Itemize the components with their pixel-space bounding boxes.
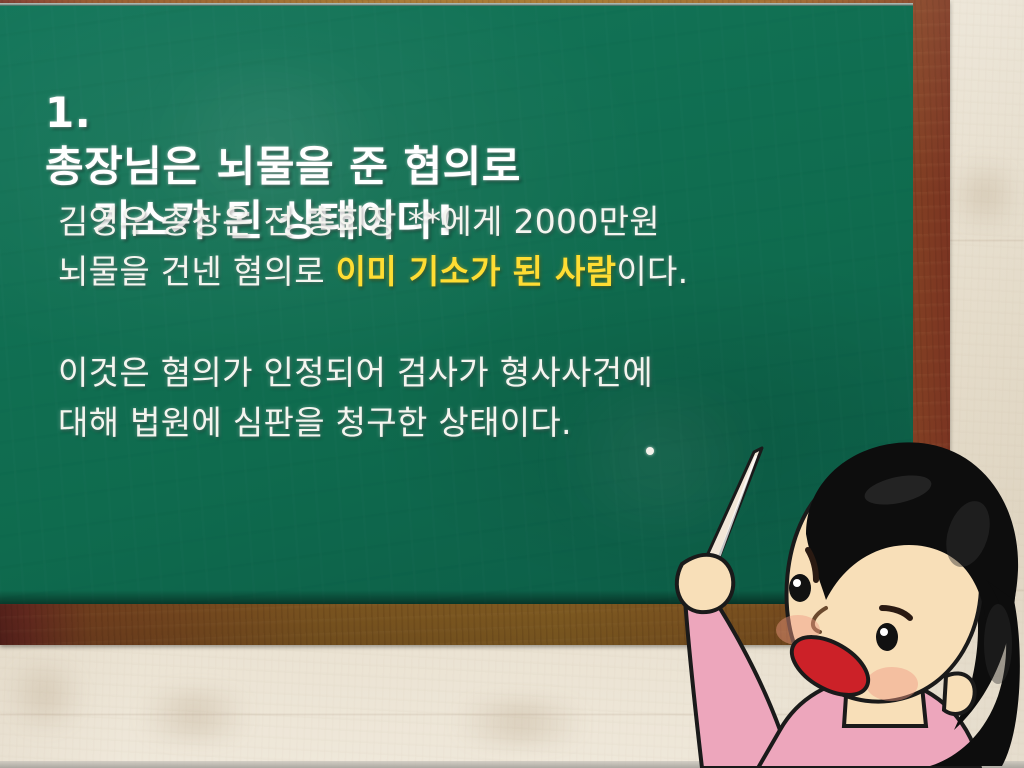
paragraph-2-line-1: 이것은 혐의가 인정되어 검사가 형사사건에 bbox=[58, 348, 838, 398]
paragraph-1: 김영우 총장은 전 총회장 **에게 2000만원 뇌물을 건넨 혐의로 이미 … bbox=[58, 197, 858, 297]
paragraph-2-line-2: 대해 법원에 심판을 청구한 상태이다. bbox=[58, 398, 838, 448]
wall-crack bbox=[0, 714, 930, 715]
paragraph-1-line-2-suffix: 이다. bbox=[616, 252, 688, 291]
highlighted-phrase: 이미 기소가 된 사람 bbox=[336, 252, 617, 291]
wall-crack bbox=[950, 240, 1024, 241]
wall-crack bbox=[950, 590, 1024, 591]
slide-number: 1. bbox=[45, 88, 91, 137]
slide-canvas: 1. 총장님은 뇌물을 준 협의로 기소가 된 상태이다! 김영우 총장은 전 … bbox=[0, 0, 1024, 768]
chalkboard-text-layer: 1. 총장님은 뇌물을 준 협의로 기소가 된 상태이다! 김영우 총장은 전 … bbox=[0, 0, 913, 604]
paragraph-1-line-2: 뇌물을 건넨 혐의로 이미 기소가 된 사람이다. bbox=[58, 247, 858, 297]
wall-bottom-edge bbox=[0, 761, 1024, 768]
wall-stain bbox=[430, 700, 610, 744]
wall-stain bbox=[955, 150, 1015, 240]
chalk-dot bbox=[646, 447, 654, 455]
paragraph-1-line-1: 김영우 총장은 전 총회장 **에게 2000만원 bbox=[58, 197, 858, 247]
title-line-1: 총장님은 뇌물을 준 협의로 bbox=[45, 142, 521, 191]
wall-stain bbox=[0, 660, 90, 730]
paragraph-1-line-2-prefix: 뇌물을 건넨 혐의로 bbox=[58, 252, 336, 291]
paragraph-2: 이것은 혐의가 인정되어 검사가 형사사건에 대해 법원에 심판을 청구한 상태… bbox=[58, 348, 838, 448]
wall-stain bbox=[120, 690, 270, 740]
